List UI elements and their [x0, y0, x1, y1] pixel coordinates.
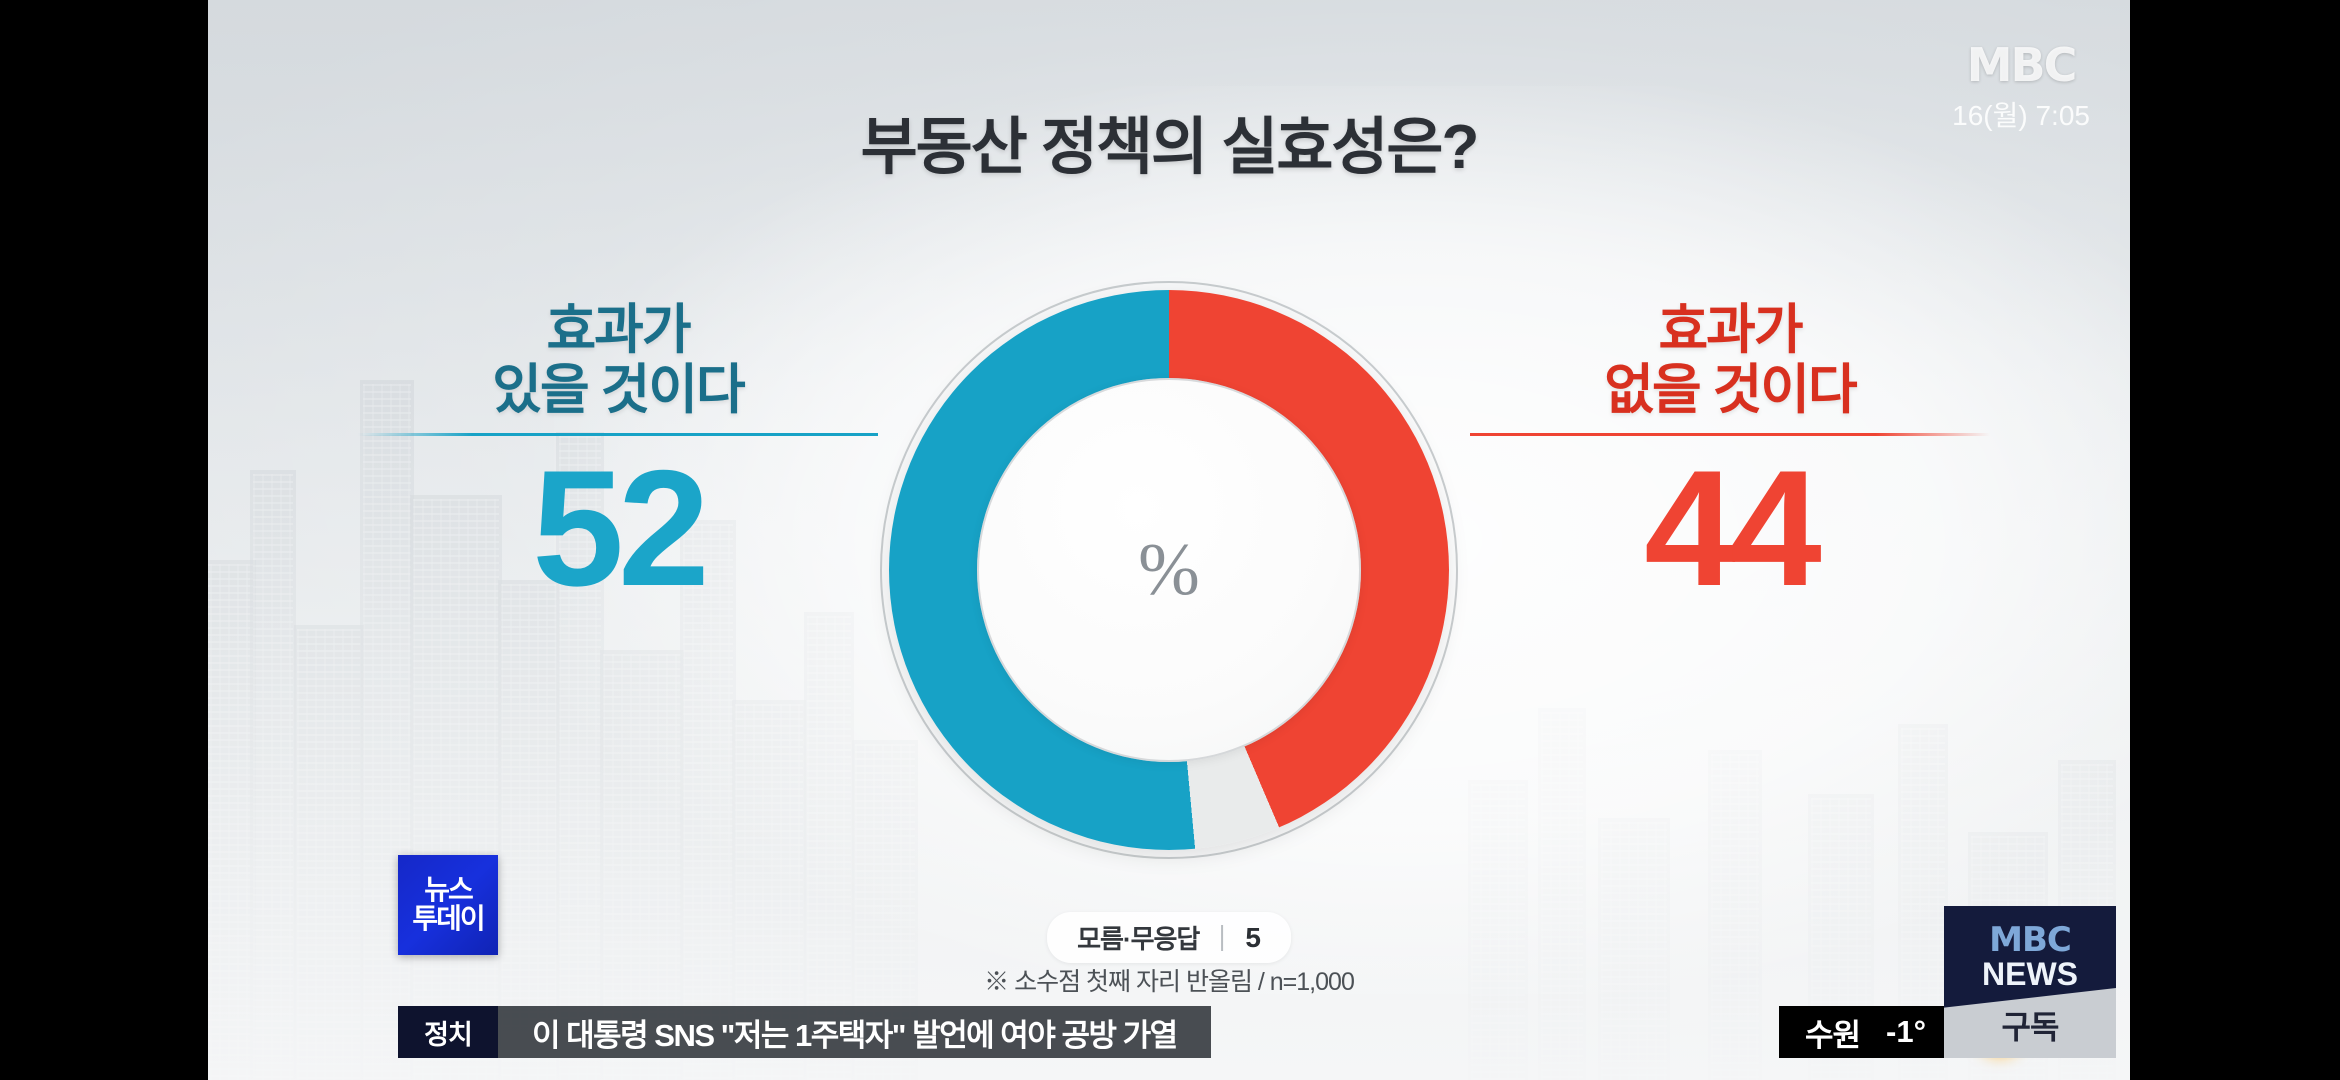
- result-label-negative: 효과가 없을 것이다: [1470, 300, 1990, 421]
- result-label-negative-line2: 없을 것이다: [1470, 360, 1990, 420]
- page-title: 부동산 정책의 실효성은?: [208, 96, 2130, 186]
- ticker-headline: 이 대통령 SNS "저는 1주택자" 발언에 여야 공방 가열: [498, 1006, 1211, 1058]
- result-value-negative: 44: [1470, 446, 1990, 611]
- news-ticker: 정치 이 대통령 SNS "저는 1주택자" 발언에 여야 공방 가열: [398, 1006, 1211, 1058]
- program-badge-line1: 뉴스: [424, 876, 472, 905]
- no-opinion-value: 5: [1245, 922, 1261, 954]
- weather-city: 수원: [1805, 1010, 1860, 1055]
- subscribe-brand: MBC NEWS: [1944, 906, 2116, 993]
- subscribe-brand-mbc: MBC: [1944, 920, 2116, 960]
- ticker-category: 정치: [398, 1006, 498, 1058]
- no-opinion-pill: 모름·무응답 5: [1047, 912, 1291, 963]
- program-badge-line2: 투데이: [412, 905, 483, 934]
- percent-symbol: %: [977, 378, 1361, 762]
- program-badge: 뉴스 투데이: [398, 855, 498, 955]
- result-block-negative: 효과가 없을 것이다 44: [1470, 300, 1990, 611]
- result-label-positive-line2: 있을 것이다: [358, 360, 878, 420]
- subscribe-box[interactable]: MBC NEWS 구독: [1944, 906, 2116, 1058]
- result-label-positive: 효과가 있을 것이다: [358, 300, 878, 421]
- mbc-logo: MBC: [1952, 38, 2090, 92]
- subscribe-action-label: 구독: [1944, 1002, 2116, 1048]
- result-value-positive: 52: [358, 446, 878, 611]
- survey-note: ※ 소수점 첫째 자리 반올림 / n=1,000: [984, 962, 1354, 998]
- result-block-positive: 효과가 있을 것이다 52: [358, 300, 878, 611]
- broadcast-screen: MBC 16(월) 7:05 부동산 정책의 실효성은? % 효과가 있을 것이…: [0, 0, 2340, 1080]
- result-label-negative-line1: 효과가: [1470, 300, 1990, 360]
- pillarbox-left: [0, 0, 208, 1080]
- pillarbox-right: [2130, 0, 2340, 1080]
- result-label-positive-line1: 효과가: [358, 300, 878, 360]
- video-frame: MBC 16(월) 7:05 부동산 정책의 실효성은? % 효과가 있을 것이…: [208, 0, 2130, 1080]
- donut-chart: %: [889, 290, 1449, 850]
- pill-separator: [1221, 925, 1223, 951]
- weather-temperature: -1°: [1886, 1014, 1926, 1050]
- no-opinion-label: 모름·무응답: [1077, 919, 1199, 956]
- subscribe-brand-news: NEWS: [1944, 956, 2116, 993]
